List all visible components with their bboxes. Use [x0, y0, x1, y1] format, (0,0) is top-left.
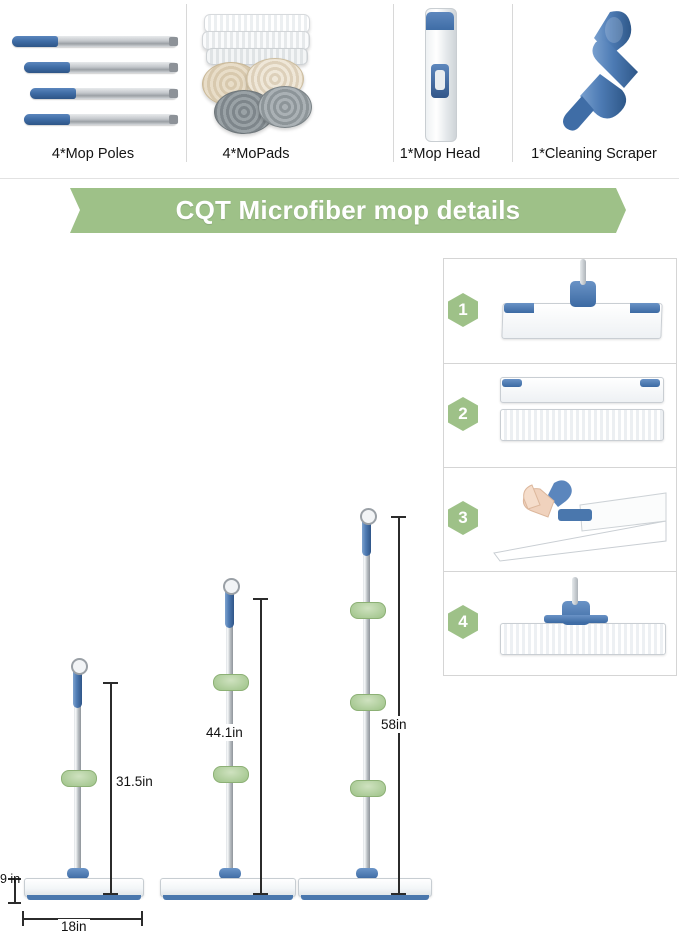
- step-panel-3: 3: [444, 467, 676, 572]
- dim-large-height-label: 58in: [379, 716, 409, 733]
- step4-bracket: [544, 615, 608, 623]
- dim-large-height-line: [398, 516, 400, 894]
- mop-medium-collar-2: [213, 766, 249, 783]
- dim-small-width-cap-left: [22, 911, 24, 926]
- scraper-svg: [548, 6, 668, 142]
- dim-medium-height-cap-bottom: [253, 893, 268, 895]
- pole-1: [12, 36, 178, 47]
- mop-poles-image: [8, 18, 178, 128]
- mop-small-knob: [71, 658, 88, 675]
- step2-frame-clip-right: [640, 379, 660, 387]
- dim-small-height-line: [110, 682, 112, 894]
- dim-medium-height-cap-top: [253, 598, 268, 600]
- parts-row: 4*Mop Poles 4*MoPads 1*Mop Head: [0, 0, 679, 172]
- step4-pad: [500, 623, 666, 655]
- mop-head-clip: [431, 64, 449, 98]
- step2-pad: [500, 409, 664, 441]
- pole-grip: [12, 36, 58, 47]
- divider-3: [512, 4, 513, 162]
- dim-small-height-cap-bottom: [103, 893, 118, 895]
- part-label-scraper: 1*Cleaning Scraper: [513, 146, 675, 162]
- mop-pads-image: [196, 10, 316, 132]
- mop-small-collar: [61, 770, 97, 787]
- pole-tip: [169, 37, 178, 46]
- part-label-mop-poles: 4*Mop Poles: [28, 146, 158, 162]
- mop-size-comparison: 31.5in 18in 9 in 44.1in 58in: [0, 246, 440, 683]
- part-label-mop-head: 1*Mop Head: [382, 146, 498, 162]
- mop-medium-pole: [226, 618, 233, 876]
- dim-small-width-label: 18in: [58, 919, 90, 934]
- rolled-pad-gray-2: [258, 86, 312, 128]
- dim-small-height-label: 31.5in: [116, 774, 153, 789]
- mop-large-plate: [298, 878, 432, 897]
- step-badge-4: 4: [448, 605, 478, 639]
- dim-large-height-cap-top: [391, 516, 406, 518]
- dim-medium-height-label: 44.1in: [204, 724, 245, 741]
- mop-large-collar-3: [350, 780, 386, 797]
- step1-pole: [580, 259, 586, 285]
- divider-2: [393, 4, 394, 162]
- mop-medium-knob: [223, 578, 240, 595]
- mop-small-pole: [74, 698, 81, 876]
- dim-small-thickness-label: 9 in: [0, 872, 20, 886]
- pole-tip: [169, 115, 178, 124]
- pole-3: [30, 88, 178, 99]
- mop-large-pole: [363, 546, 370, 876]
- mop-large-collar-1: [350, 602, 386, 619]
- dim-small-thickness-cap-bottom: [8, 902, 21, 904]
- step1-plate-blue-left: [504, 303, 534, 313]
- pole-grip: [30, 88, 76, 99]
- step-panel-1: 1: [444, 259, 676, 364]
- mop-small-plate: [24, 878, 144, 897]
- dim-large-height-cap-bottom: [391, 893, 406, 895]
- step-panel-4: 4: [444, 571, 676, 675]
- mop-head-top-connector: [426, 12, 454, 30]
- pole-grip: [24, 114, 70, 125]
- pole-4: [24, 114, 178, 125]
- product-infographic: 4*Mop Poles 4*MoPads 1*Mop Head: [0, 0, 679, 683]
- step3-illustration: [484, 475, 676, 567]
- mop-large-knob: [360, 508, 377, 525]
- step-badge-3: 3: [448, 501, 478, 535]
- step4-pole: [572, 577, 578, 605]
- step-badge-2: 2: [448, 397, 478, 431]
- section-banner: CQT Microfiber mop details: [70, 188, 626, 233]
- divider-1: [186, 4, 187, 162]
- pole-tip: [169, 89, 178, 98]
- dim-medium-height-line: [260, 598, 262, 894]
- mop-head-image: [417, 8, 463, 140]
- pole-tip: [169, 63, 178, 72]
- step-panel-2: 2: [444, 363, 676, 468]
- pole-2: [24, 62, 178, 73]
- step2-frame-clip-left: [502, 379, 522, 387]
- step-badge-1: 1: [448, 293, 478, 327]
- pole-grip: [24, 62, 70, 73]
- part-label-mop-pads: 4*MoPads: [196, 146, 316, 162]
- cleaning-scraper-image: [548, 6, 668, 142]
- mop-large-collar-2: [350, 694, 386, 711]
- step-panels: 1 2 3: [443, 258, 677, 676]
- section-divider: [0, 178, 679, 179]
- dim-small-width-cap-right: [141, 911, 143, 926]
- mop-medium-plate: [160, 878, 296, 897]
- step1-plate-blue-right: [630, 303, 660, 313]
- banner-title: CQT Microfiber mop details: [70, 188, 626, 233]
